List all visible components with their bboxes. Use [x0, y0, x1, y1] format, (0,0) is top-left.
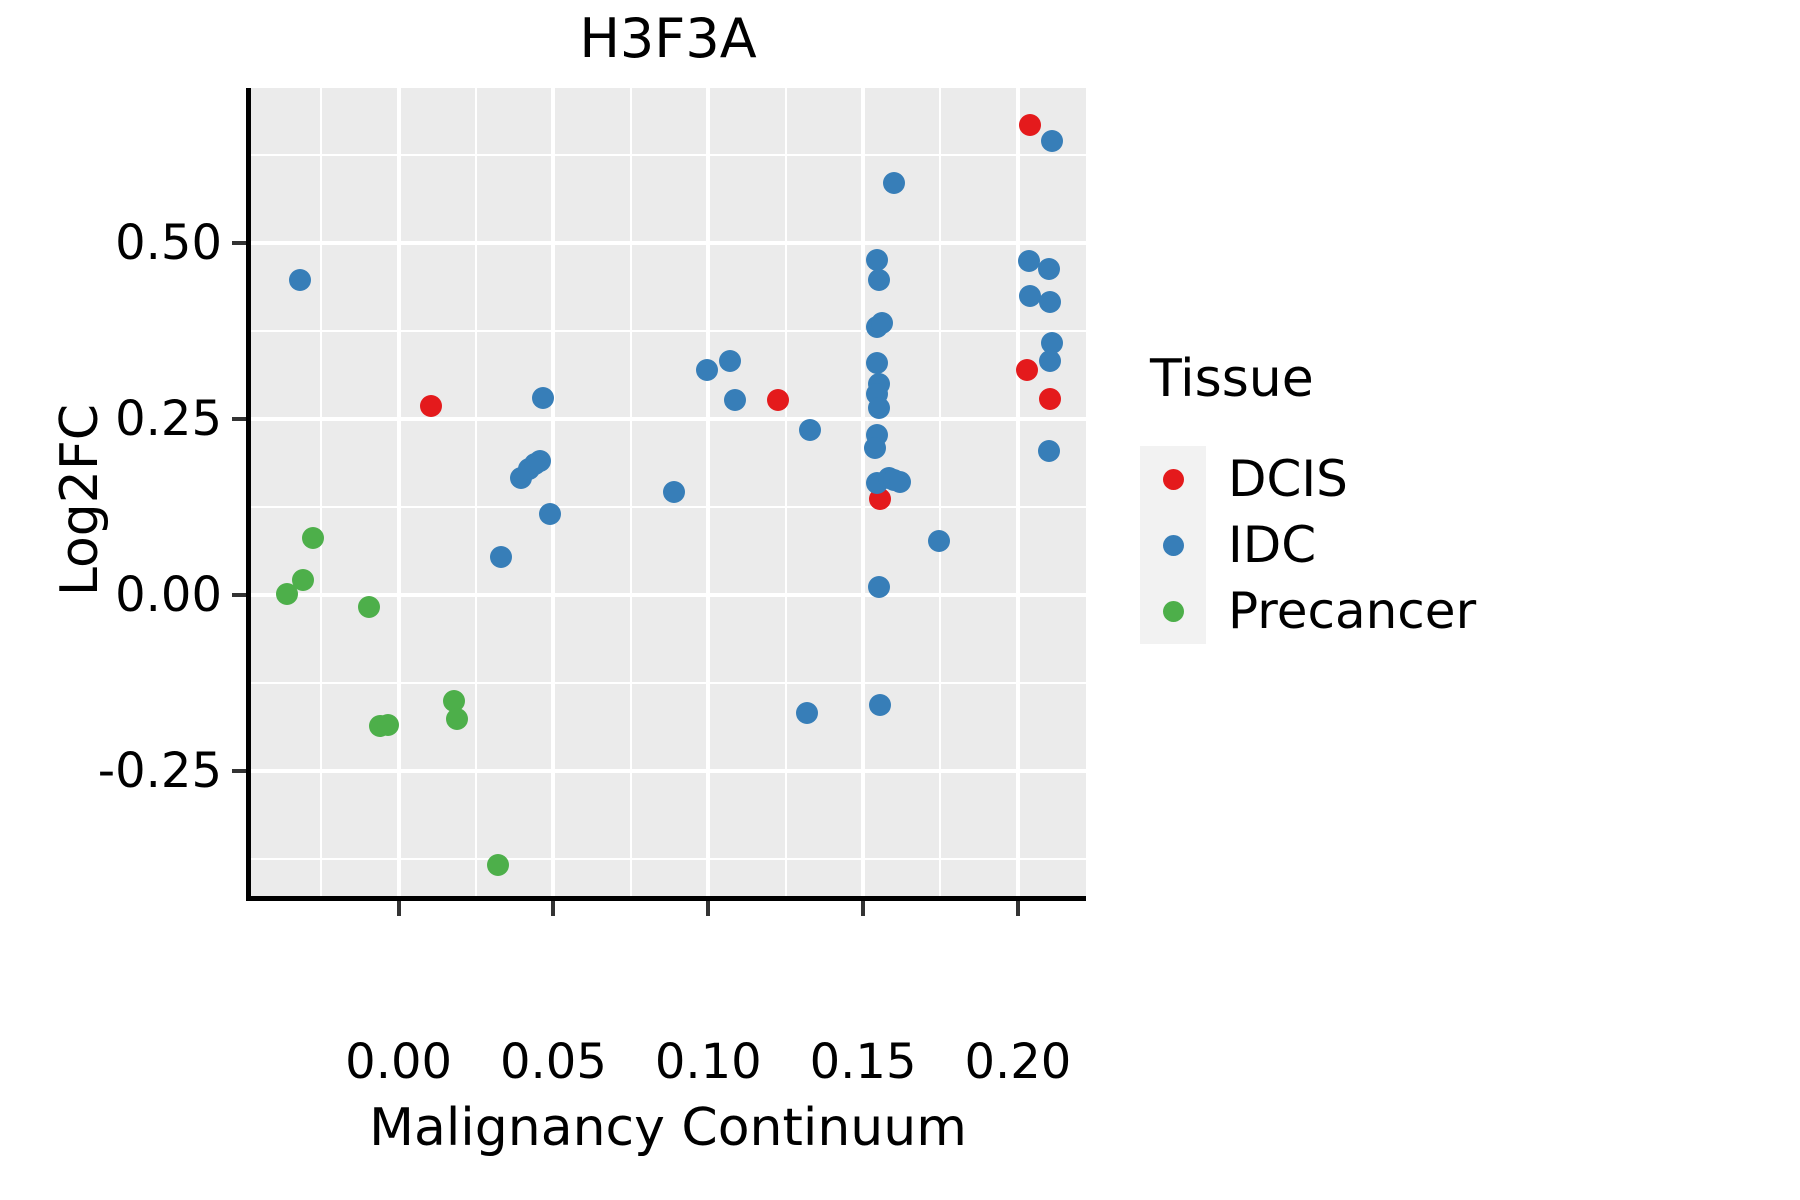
- data-point-dcis: [420, 395, 442, 417]
- gridline-horizontal: [250, 769, 1086, 773]
- data-point-idc: [866, 249, 888, 271]
- data-point-idc: [724, 389, 746, 411]
- chart-title: H3F3A: [250, 8, 1086, 70]
- legend-dot-icon: [1163, 469, 1184, 490]
- legend-entry-label: DCIS: [1228, 451, 1348, 507]
- data-point-idc: [1039, 350, 1061, 372]
- legend-entry-idc[interactable]: IDC: [1140, 512, 1760, 578]
- data-point-idc: [866, 352, 888, 374]
- gridline-vertical: [939, 88, 941, 898]
- legend-title: Tissue: [1150, 350, 1760, 408]
- y-axis-line: [246, 88, 251, 900]
- data-point-idc: [663, 481, 685, 503]
- gridline-vertical: [397, 88, 401, 898]
- data-point-idc: [869, 694, 891, 716]
- legend-key-swatch: [1140, 446, 1206, 512]
- data-point-idc: [868, 269, 890, 291]
- gridline-vertical: [706, 88, 710, 898]
- gridline-vertical: [785, 88, 787, 898]
- gridline-horizontal: [250, 241, 1086, 245]
- data-point-dcis: [767, 389, 789, 411]
- x-axis-title: Malignancy Continuum: [250, 1098, 1086, 1158]
- legend-dot-icon: [1163, 535, 1184, 556]
- gridline-horizontal: [250, 858, 1086, 860]
- legend-entry-label: IDC: [1228, 517, 1316, 573]
- gridline-vertical: [861, 88, 865, 898]
- gridline-vertical: [630, 88, 632, 898]
- legend-key-swatch: [1140, 512, 1206, 578]
- data-point-precancer: [446, 708, 468, 730]
- legend-entry-precancer[interactable]: Precancer: [1140, 578, 1760, 644]
- data-point-idc: [490, 546, 512, 568]
- gridline-horizontal: [250, 154, 1086, 156]
- gridline-vertical: [475, 88, 477, 898]
- y-tick-label: -0.25: [98, 747, 222, 795]
- data-point-idc: [1039, 291, 1061, 313]
- data-point-precancer: [377, 714, 399, 736]
- y-tick-mark: [232, 593, 246, 597]
- data-point-dcis: [1039, 388, 1061, 410]
- data-point-dcis: [1019, 114, 1041, 136]
- x-tick-mark: [861, 901, 865, 916]
- data-point-idc: [529, 450, 551, 472]
- data-point-precancer: [302, 527, 324, 549]
- x-tick-mark: [397, 901, 401, 916]
- x-tick-label: 0.20: [964, 1036, 1071, 1088]
- gridline-vertical: [1016, 88, 1020, 898]
- data-point-idc: [696, 359, 718, 381]
- gridline-vertical: [551, 88, 555, 898]
- data-point-idc: [928, 530, 950, 552]
- gridline-horizontal: [250, 330, 1086, 332]
- data-point-dcis: [1016, 359, 1038, 381]
- data-point-precancer: [358, 596, 380, 618]
- x-tick-mark: [551, 901, 555, 916]
- data-point-idc: [1038, 258, 1060, 280]
- y-tick-label: 0.25: [115, 395, 222, 443]
- data-point-precancer: [487, 854, 509, 876]
- gridline-horizontal: [250, 417, 1086, 421]
- data-point-precancer: [292, 569, 314, 591]
- data-point-idc: [1041, 130, 1063, 152]
- legend-entry-dcis[interactable]: DCIS: [1140, 446, 1760, 512]
- gridline-vertical: [320, 88, 322, 898]
- data-point-idc: [796, 702, 818, 724]
- scatter-plot-figure: H3F3A -0.250.000.250.50 0.000.050.100.15…: [0, 0, 1800, 1200]
- data-point-idc: [799, 419, 821, 441]
- y-tick-mark: [232, 769, 246, 773]
- y-tick-mark: [232, 241, 246, 245]
- x-tick-label: 0.05: [500, 1036, 607, 1088]
- x-tick-mark: [1016, 901, 1020, 916]
- data-point-idc: [1018, 250, 1040, 272]
- data-point-idc: [1019, 285, 1041, 307]
- x-axis-line: [246, 896, 1086, 901]
- plot-panel: [250, 88, 1086, 898]
- data-point-idc: [889, 471, 911, 493]
- data-point-idc: [868, 397, 890, 419]
- gridline-horizontal: [250, 593, 1086, 597]
- data-point-idc: [883, 172, 905, 194]
- legend-dot-icon: [1163, 601, 1184, 622]
- x-tick-label: 0.15: [810, 1036, 917, 1088]
- data-point-idc: [1038, 440, 1060, 462]
- legend-entry-label: Precancer: [1228, 583, 1476, 639]
- x-tick-mark: [706, 901, 710, 916]
- legend-entries: DCISIDCPrecancer: [1140, 446, 1760, 644]
- data-point-idc: [539, 503, 561, 525]
- legend: Tissue DCISIDCPrecancer: [1140, 350, 1760, 644]
- gridline-horizontal: [250, 506, 1086, 508]
- y-tick-mark: [232, 417, 246, 421]
- data-point-idc: [864, 437, 886, 459]
- gridline-horizontal: [250, 682, 1086, 684]
- y-tick-label: 0.00: [115, 571, 222, 619]
- x-tick-label: 0.10: [655, 1036, 762, 1088]
- y-axis-title: Log2FC: [50, 250, 110, 750]
- legend-key-swatch: [1140, 578, 1206, 644]
- data-point-idc: [871, 312, 893, 334]
- data-point-idc: [532, 387, 554, 409]
- data-point-idc: [719, 350, 741, 372]
- x-tick-label: 0.00: [345, 1036, 452, 1088]
- y-tick-label: 0.50: [115, 219, 222, 267]
- data-point-idc: [289, 269, 311, 291]
- data-point-idc: [868, 576, 890, 598]
